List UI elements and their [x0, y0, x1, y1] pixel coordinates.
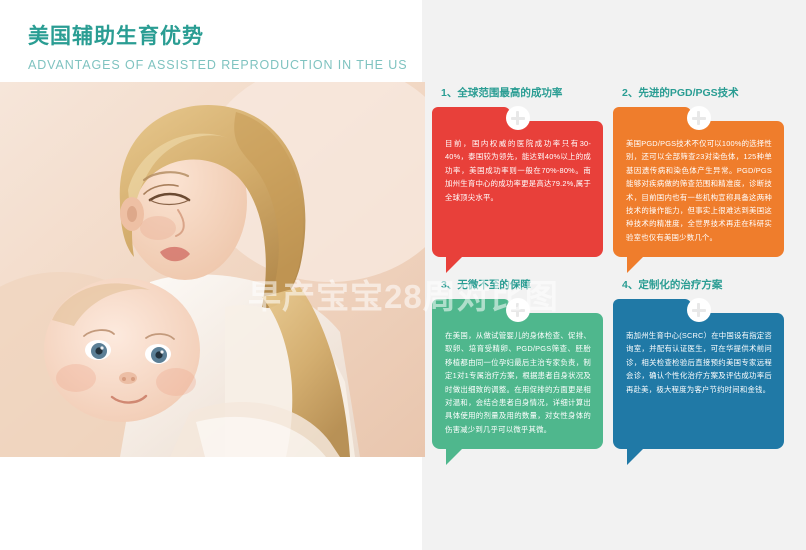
advantage-card-2[interactable]: 2、先进的PGD/PGS技术 美国PGD/PGS技术不仅可以100%的选择性别，…: [613, 86, 784, 257]
card-1-heading: 1、全球范围最高的成功率: [432, 86, 603, 101]
hero-photo: [0, 82, 425, 457]
card-4-text: 南加州生育中心(SCRC）在中国设有指定咨询室，并配有认证医生，可在华提供术前问…: [626, 329, 772, 396]
advantage-card-1[interactable]: 1、全球范围最高的成功率 目前，国内权威的医院成功率只有30-40%，泰国较为领…: [432, 86, 603, 257]
advantage-card-4[interactable]: 4、定制化的治疗方案 南加州生育中心(SCRC）在中国设有指定咨询室，并配有认证…: [613, 278, 784, 449]
card-4-tail: [627, 447, 645, 465]
card-3-tail: [446, 447, 464, 465]
card-1-tail: [446, 255, 464, 273]
card-2-text: 美国PGD/PGS技术不仅可以100%的选择性别，还可以全部筛查23对染色体，1…: [626, 137, 772, 244]
card-2-tail: [627, 255, 645, 273]
card-1-bubble: 目前，国内权威的医院成功率只有30-40%，泰国较为领先，能达到40%以上的成功…: [432, 107, 603, 257]
page-subtitle: ADVANTAGES OF ASSISTED REPRODUCTION IN T…: [28, 57, 448, 74]
mother-and-baby-illustration: [0, 82, 425, 457]
card-2-bubble: 美国PGD/PGS技术不仅可以100%的选择性别，还可以全部筛查23对染色体，1…: [613, 107, 784, 257]
card-1-text: 目前，国内权威的医院成功率只有30-40%，泰国较为领先，能达到40%以上的成功…: [445, 137, 591, 204]
card-3-bubble: 在美国，从做试管婴儿的身体检查、促排、取卵、培育受精卵、PGD/PGS筛查、胚胎…: [432, 299, 603, 449]
plus-icon[interactable]: [687, 298, 711, 322]
page-title: 美国辅助生育优势: [28, 22, 448, 52]
advantage-cards: 1、全球范围最高的成功率 目前，国内权威的医院成功率只有30-40%，泰国较为领…: [432, 86, 792, 466]
plus-icon[interactable]: [687, 106, 711, 130]
card-3-text: 在美国，从做试管婴儿的身体检查、促排、取卵、培育受精卵、PGD/PGS筛查、胚胎…: [445, 329, 591, 436]
card-3-heading: 3、无微不至的保障: [432, 278, 603, 293]
card-2-heading: 2、先进的PGD/PGS技术: [613, 86, 784, 101]
card-4-bubble: 南加州生育中心(SCRC）在中国设有指定咨询室，并配有认证医生，可在华提供术前问…: [613, 299, 784, 449]
advantage-card-3[interactable]: 3、无微不至的保障 在美国，从做试管婴儿的身体检查、促排、取卵、培育受精卵、PG…: [432, 278, 603, 449]
plus-icon[interactable]: [506, 298, 530, 322]
page-header: 美国辅助生育优势 ADVANTAGES OF ASSISTED REPRODUC…: [28, 22, 448, 74]
card-4-heading: 4、定制化的治疗方案: [613, 278, 784, 293]
page-root: 美国辅助生育优势 ADVANTAGES OF ASSISTED REPRODUC…: [0, 0, 806, 550]
plus-icon[interactable]: [506, 106, 530, 130]
